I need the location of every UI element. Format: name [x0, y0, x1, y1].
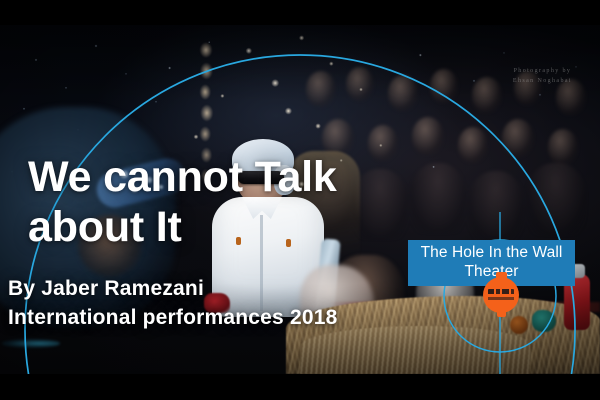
letterbox-bar-bottom — [0, 374, 600, 400]
poster-performances: International performances 2018 — [8, 306, 478, 330]
poster-title: We cannot Talk about It — [28, 152, 458, 252]
letterbox-bar-top — [0, 0, 600, 25]
credit-line-2: Ehsan Noghabai — [513, 76, 572, 86]
photography-credit: Photography by Ehsan Noghabai — [513, 66, 572, 86]
poster-slide: Photography by Ehsan Noghabai We cannot … — [0, 0, 600, 400]
title-line-1: We cannot Talk — [28, 152, 458, 202]
title-line-2: about It — [28, 202, 458, 252]
teal-prop — [532, 310, 556, 332]
straw-floor-front — [300, 326, 530, 374]
theatre-logo-icon — [483, 277, 519, 313]
orange-prop — [510, 316, 528, 334]
cyan-light-glint — [2, 339, 60, 348]
credit-line-1: Photography by — [513, 66, 572, 76]
logo-wordmark — [488, 289, 514, 301]
